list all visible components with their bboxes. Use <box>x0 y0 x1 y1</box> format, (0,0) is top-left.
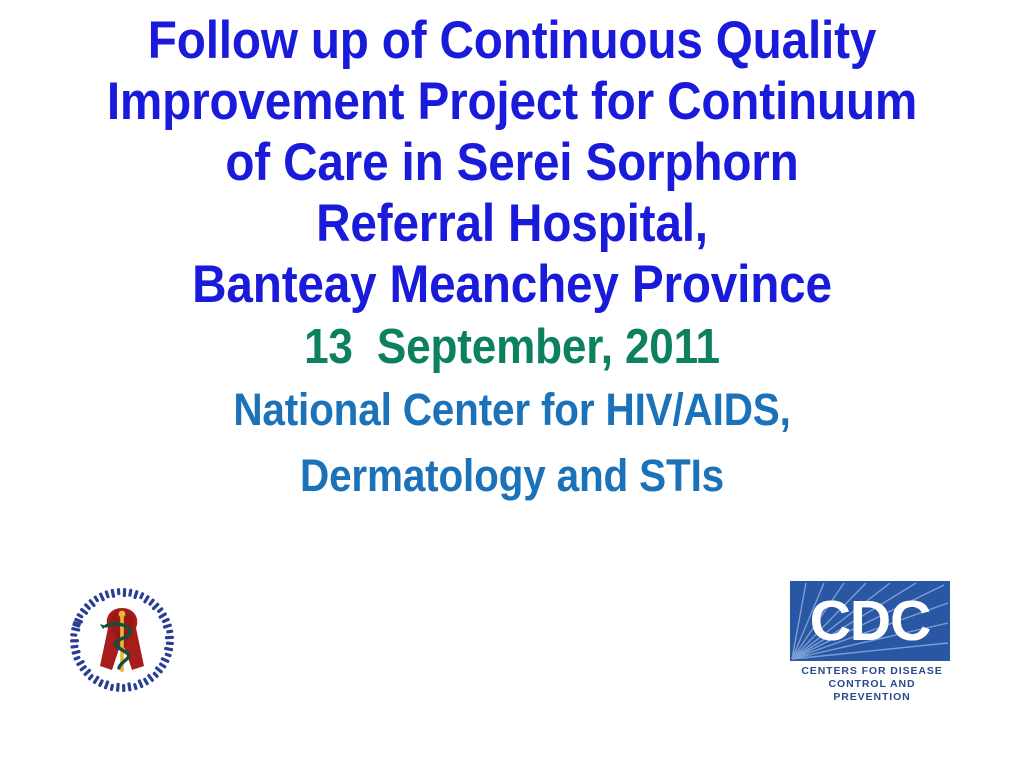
organization-line-1: National Center for HIV/AIDS, <box>51 377 973 443</box>
cdc-tagline-line-2: Control and Prevention <box>790 678 954 704</box>
cdc-wordmark-box: CDC ™ <box>790 581 950 661</box>
title-line-5: Banteay Meanchey Province <box>51 254 973 315</box>
nchads-logo <box>60 578 184 702</box>
title-line-2: Improvement Project for Continuum <box>51 71 973 132</box>
title-line-1: Follow up of Continuous Quality <box>51 10 973 71</box>
title-text-block: Follow up of Continuous Quality Improvem… <box>0 10 1024 509</box>
title-line-4: Referral Hospital, <box>51 193 973 254</box>
cdc-tagline: Centers for Disease Control and Preventi… <box>790 665 954 704</box>
organization-line-2: Dermatology and STIs <box>51 443 973 509</box>
cdc-tagline-line-1: Centers for Disease <box>790 665 954 678</box>
cdc-wordmark: CDC <box>790 581 950 661</box>
title-line-3: of Care in Serei Sorphorn <box>51 132 973 193</box>
presentation-date: 13 September, 2011 <box>51 317 973 377</box>
cdc-logo: CDC ™ Centers for Disease Control and Pr… <box>790 581 954 693</box>
presentation-title-slide: Follow up of Continuous Quality Improvem… <box>0 0 1024 768</box>
